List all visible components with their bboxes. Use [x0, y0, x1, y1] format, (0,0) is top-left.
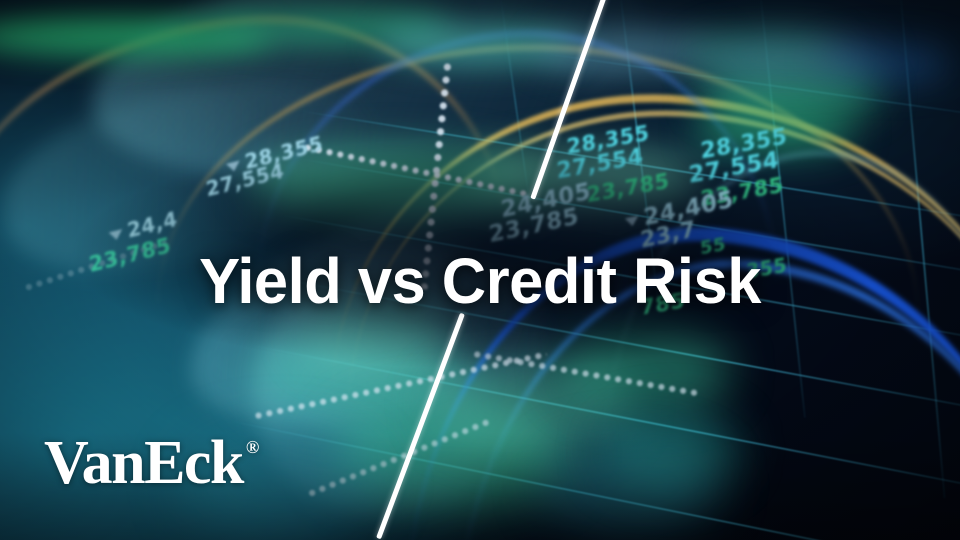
ticker-value: 24,405 [624, 186, 735, 235]
ticker-text: 23,785 [586, 169, 670, 208]
ticker-value: 28,355 [566, 121, 650, 160]
ticker-value: 27,554 [205, 158, 286, 201]
glow-blob [600, 410, 740, 490]
glow-blob [820, 46, 950, 80]
glow-blob [430, 360, 630, 450]
down-triangle-icon [109, 229, 124, 241]
ticker-text: 24,4 [126, 207, 179, 243]
glow-blob [210, 8, 450, 44]
ticker-text: 24,405 [500, 178, 592, 223]
ticker-text: 23,785 [700, 173, 784, 212]
glow-blob [0, 16, 270, 56]
ticker-text: 28,355 [243, 131, 324, 174]
glow-blob [560, 330, 730, 410]
vaneck-banner: 28,35527,55424,423,78528,35527,55423,785… [0, 0, 960, 540]
glow-blob [695, 110, 855, 154]
ticker-text: 28,355 [566, 121, 650, 160]
ticker-text: 23,785 [488, 203, 580, 248]
glow-blob [700, 36, 880, 80]
page-title: Yield vs Credit Risk [19, 249, 941, 313]
glow-blob [250, 148, 540, 218]
glow-blob [540, 440, 720, 530]
ticker-value: 23,785 [700, 173, 784, 212]
registered-trademark-icon: ® [246, 438, 259, 456]
glow-blob [380, 22, 580, 64]
glow-blob [470, 150, 700, 206]
diagonal-slash-bottom [376, 313, 465, 540]
ticker-text: 24,405 [642, 186, 734, 231]
vaneck-logo[interactable]: VanEck ® [44, 432, 259, 494]
down-triangle-icon [226, 161, 241, 173]
down-triangle-icon [625, 216, 640, 228]
ticker-value: 28,355 [225, 131, 325, 179]
ticker-value: 24,405 [500, 178, 592, 223]
ticker-value: 27,554 [688, 147, 780, 189]
ticker-text: 28,355 [700, 124, 788, 164]
ticker-value: 27,554 [556, 144, 644, 184]
diagonal-slash-top [530, 0, 606, 200]
glow-blob [330, 400, 570, 510]
ticker-value: 24,4 [107, 207, 179, 248]
ticker-value: 28,355 [700, 124, 788, 164]
ticker-text: 27,554 [556, 144, 644, 184]
ticker-value: 23,785 [488, 203, 580, 248]
glow-blob [690, 34, 840, 72]
ticker-value: 23,785 [586, 169, 670, 208]
ticker-text: 27,554 [205, 158, 286, 201]
glow-blob [540, 30, 720, 70]
glow-blob [700, 70, 880, 120]
logo-wordmark: VanEck [44, 432, 243, 494]
ticker-text: 27,554 [688, 147, 780, 189]
